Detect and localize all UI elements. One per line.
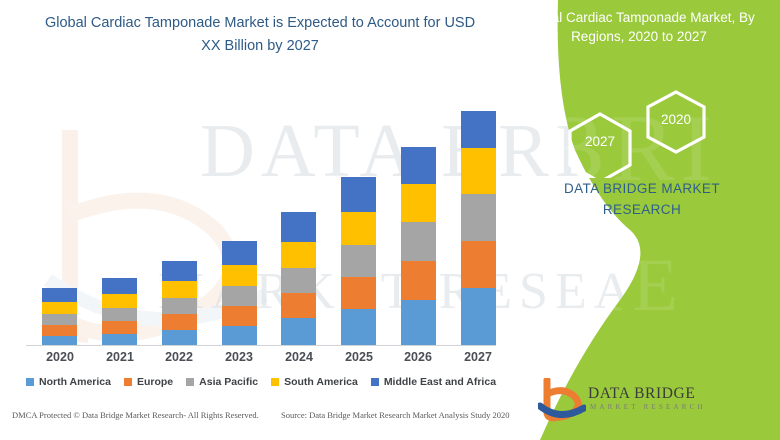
bar-2023 [222, 241, 257, 345]
chart-plot-area [26, 85, 504, 345]
bar-segment [42, 288, 77, 302]
x-label-2020: 2020 [30, 350, 90, 364]
bar-segment [222, 265, 257, 286]
bar-segment [162, 298, 197, 314]
panel-brand-text: DATA BRIDGE MARKET RESEARCH [516, 178, 768, 220]
footer: DMCA Protected © Data Bridge Market Rese… [0, 410, 540, 440]
bar-segment [42, 302, 77, 314]
svg-text:RE: RE [572, 244, 688, 327]
legend-label: Europe [137, 376, 173, 388]
legend-swatch-icon [186, 378, 194, 386]
x-axis-line [26, 345, 496, 346]
bar-segment [341, 277, 376, 309]
bar-segment [401, 300, 436, 345]
bar-segment [102, 294, 137, 308]
bar-segment [102, 308, 137, 321]
x-label-2022: 2022 [149, 350, 209, 364]
bar-segment [222, 306, 257, 326]
brand-name: DATA BRIDGE [588, 385, 695, 403]
bar-segment [222, 241, 257, 265]
brand-b-icon [538, 378, 586, 422]
bar-segment [341, 177, 376, 212]
bar-2025 [341, 177, 376, 345]
legend-label: South America [284, 376, 358, 388]
bar-segment [401, 222, 436, 261]
bar-segment [281, 318, 316, 345]
legend-swatch-icon [271, 378, 279, 386]
dmca-notice: DMCA Protected © Data Bridge Market Rese… [12, 410, 259, 420]
legend-item[interactable]: South America [271, 376, 358, 388]
hexagon-badges: 2027 2020 [538, 88, 728, 178]
infographic-canvas: DATA BRIDGE MARKET RESEARCH Global Cardi… [0, 0, 780, 440]
bar-segment [341, 245, 376, 277]
bar-segment [281, 293, 316, 318]
x-label-2025: 2025 [329, 350, 389, 364]
panel-title: Global Cardiac Tamponade Market, By Regi… [508, 8, 770, 46]
bar-segment [102, 321, 137, 334]
bar-2021 [102, 278, 137, 345]
x-label-2023: 2023 [209, 350, 269, 364]
chart-legend: North AmericaEuropeAsia PacificSouth Ame… [26, 374, 506, 390]
bar-segment [341, 309, 376, 345]
bar-segment [222, 326, 257, 345]
bar-segment [162, 314, 197, 330]
bar-segment [42, 325, 77, 336]
legend-label: North America [39, 376, 111, 388]
legend-swatch-icon [124, 378, 132, 386]
x-label-2024: 2024 [269, 350, 329, 364]
legend-swatch-icon [371, 378, 379, 386]
brand-subtitle: MARKET RESEARCH [590, 403, 706, 411]
legend-label: Asia Pacific [199, 376, 258, 388]
bar-segment [401, 184, 436, 222]
page-title: Global Cardiac Tamponade Market is Expec… [34, 12, 486, 58]
legend-item[interactable]: North America [26, 376, 111, 388]
legend-item[interactable]: Asia Pacific [186, 376, 258, 388]
panel-brand-line2: RESEARCH [516, 199, 768, 220]
legend-item[interactable]: Europe [124, 376, 173, 388]
hexagon-2020-label: 2020 [646, 112, 706, 127]
bar-2022 [162, 261, 197, 345]
source-note: Source: Data Bridge Market Research Mark… [281, 410, 510, 420]
right-green-panel: BRI RE Global Cardiac Tamponade Market, … [480, 0, 780, 440]
x-axis-tick-labels: 20202021202220232024202520262027 [26, 350, 504, 370]
bar-segment [162, 330, 197, 345]
bar-2024 [281, 212, 316, 345]
bar-2026 [401, 147, 436, 345]
bar-segment [341, 212, 376, 245]
bar-segment [42, 336, 77, 345]
bar-segment [162, 281, 197, 298]
legend-item[interactable]: Middle East and Africa [371, 376, 496, 388]
bar-segment [102, 278, 137, 294]
hexagon-2027-label: 2027 [570, 134, 630, 149]
bar-segment [102, 334, 137, 345]
bar-segment [401, 261, 436, 300]
bar-2020 [42, 288, 77, 345]
bar-segment [162, 261, 197, 281]
x-label-2021: 2021 [90, 350, 150, 364]
bar-segment [222, 286, 257, 306]
x-label-2026: 2026 [388, 350, 448, 364]
bar-segment [42, 314, 77, 325]
bar-segment [281, 212, 316, 242]
bar-segment [401, 147, 436, 184]
bar-segment [281, 242, 316, 268]
bar-segment [281, 268, 316, 293]
panel-brand-line1: DATA BRIDGE MARKET [516, 178, 768, 199]
legend-swatch-icon [26, 378, 34, 386]
